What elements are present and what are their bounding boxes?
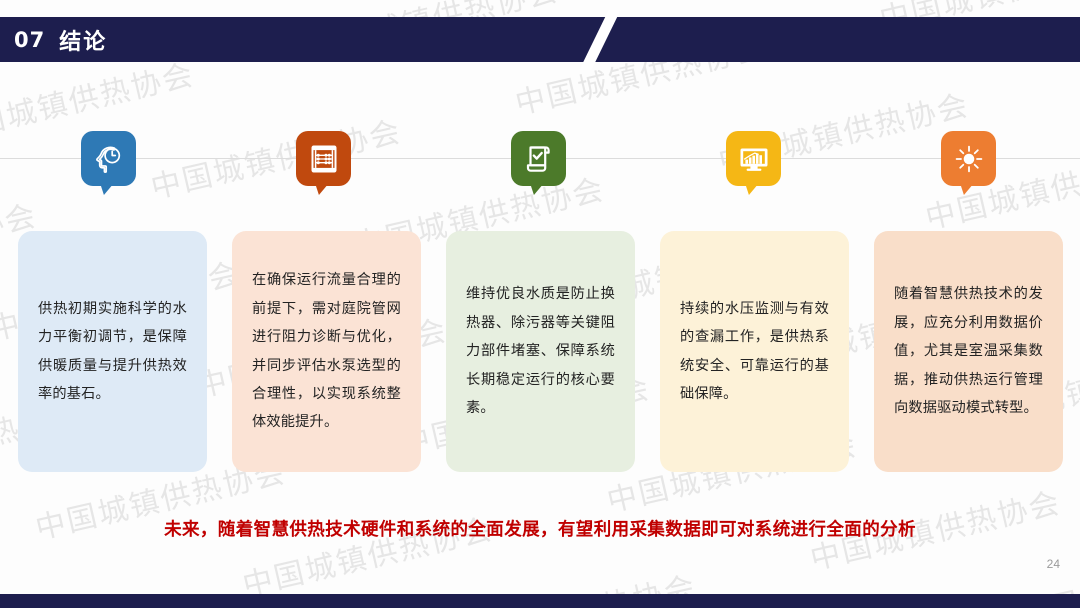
badge-tail xyxy=(100,183,114,195)
slide-canvas: 中国城镇供热协会中国城镇供热协会中国城镇供热协会中国城镇供热协会 中国城镇供热协… xyxy=(0,0,1080,608)
timeline-badge-3[interactable] xyxy=(511,131,566,186)
abacus-icon xyxy=(307,142,341,176)
conclusion-card-text: 随着智慧供热技术的发展，应充分利用数据价值，尤其是室温采集数据，推动供热运行管理… xyxy=(894,280,1043,422)
timeline-badge-4[interactable] xyxy=(726,131,781,186)
conclusion-card-5: 随着智慧供热技术的发展，应充分利用数据价值，尤其是室温采集数据，推动供热运行管理… xyxy=(874,231,1063,472)
page-title: 07 结论 xyxy=(14,17,107,62)
badge-tail xyxy=(745,183,759,195)
conclusion-card-text: 供热初期实施科学的水力平衡初调节，是保障供暖质量与提升供热效率的基石。 xyxy=(38,295,187,409)
conclusion-card-2: 在确保运行流量合理的前提下，需对庭院管网进行阻力诊断与优化，并同步评估水泵选型的… xyxy=(232,231,421,472)
watermark-text: 中国城镇供热协会 xyxy=(102,0,359,7)
head-clock-icon xyxy=(92,142,126,176)
conclusion-card-text: 持续的水压监测与有效的查漏工作，是供热系统安全、可靠运行的基础保障。 xyxy=(680,295,829,409)
section-title-text: 结论 xyxy=(59,24,107,56)
conclusion-card-4: 持续的水压监测与有效的查漏工作，是供热系统安全、可靠运行的基础保障。 xyxy=(660,231,849,472)
timeline-badge-2[interactable] xyxy=(296,131,351,186)
conclusion-card-text: 在确保运行流量合理的前提下，需对庭院管网进行阻力诊断与优化，并同步评估水泵选型的… xyxy=(252,266,401,436)
slide-header-bar xyxy=(0,17,1080,62)
conclusion-card-text: 维持优良水质是防止换热器、除污器等关键阻力部件堵塞、保障系统长期稳定运行的核心要… xyxy=(466,280,615,422)
section-number: 07 xyxy=(14,28,45,52)
watermark-text: 中国城镇供热协会 xyxy=(148,114,405,206)
bottom-summary-statement: 未来，随着智慧供热技术硬件和系统的全面发展，有望利用采集数据即可对系统进行全面的… xyxy=(0,516,1080,541)
badge-tail xyxy=(530,183,544,195)
conclusion-card-3: 维持优良水质是防止换热器、除污器等关键阻力部件堵塞、保障系统长期稳定运行的核心要… xyxy=(446,231,635,472)
scroll-check-icon xyxy=(522,142,556,176)
slide-footer-bar xyxy=(0,594,1080,608)
conclusion-card-1: 供热初期实施科学的水力平衡初调节，是保障供暖质量与提升供热效率的基石。 xyxy=(18,231,207,472)
timeline-badge-5[interactable] xyxy=(941,131,996,186)
badge-tail xyxy=(315,183,329,195)
monitor-chart-icon xyxy=(737,142,771,176)
timeline-badge-1[interactable] xyxy=(81,131,136,186)
badge-tail xyxy=(960,183,974,195)
page-number: 24 xyxy=(1047,557,1060,571)
sun-icon xyxy=(952,142,986,176)
